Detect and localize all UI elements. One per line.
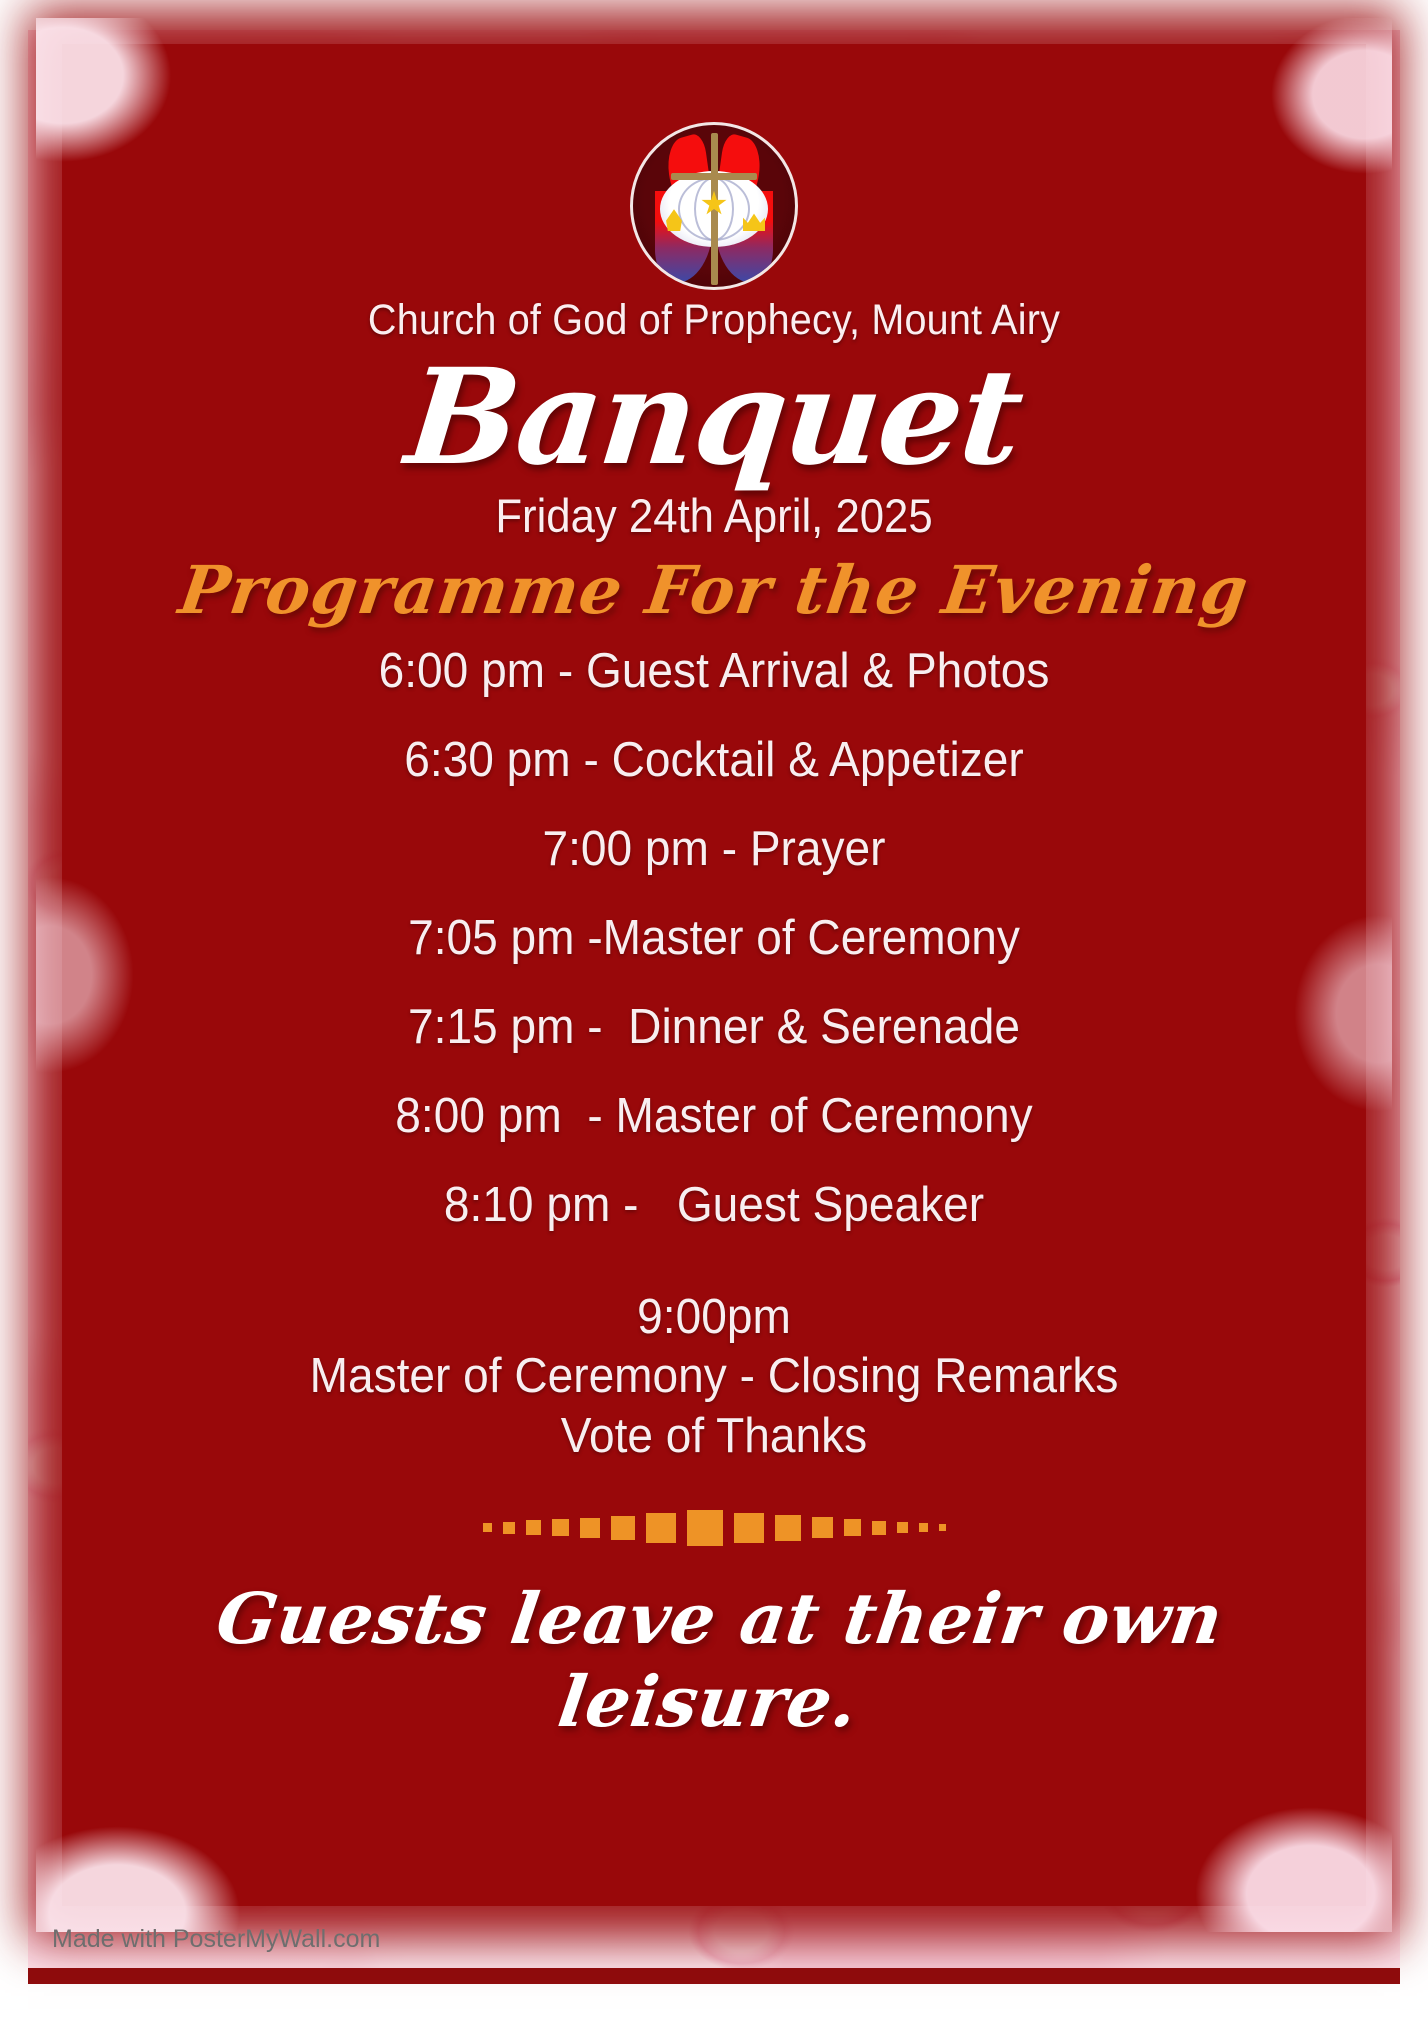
divider-square xyxy=(687,1510,723,1546)
vote-of-thanks-line: Vote of Thanks xyxy=(101,1407,1327,1467)
programme-heading: Programme For the Evening xyxy=(57,551,1372,629)
divider-square xyxy=(939,1524,946,1531)
schedule-item: 7:05 pm -Master of Ceremony xyxy=(159,914,1268,963)
divider-square xyxy=(552,1519,569,1536)
divider-square xyxy=(872,1521,886,1535)
church-emblem-logo xyxy=(630,122,798,290)
divider-square xyxy=(844,1519,861,1536)
banquet-poster: Church of God of Prophecy, Mount Airy Ba… xyxy=(0,0,1428,2028)
divider-square xyxy=(526,1520,541,1535)
divider-square xyxy=(919,1523,928,1532)
postermywall-watermark: Made with PosterMyWall.com xyxy=(52,1925,380,1954)
divider-square xyxy=(483,1523,492,1532)
closing-remarks-line: Master of Ceremony - Closing Remarks xyxy=(101,1347,1327,1407)
divider-square xyxy=(646,1513,676,1543)
page-title: Banquet xyxy=(55,351,1373,486)
schedule-item: 7:15 pm - Dinner & Serenade xyxy=(159,1003,1268,1052)
closing-time: 9:00pm xyxy=(101,1288,1327,1348)
schedule-item: 6:00 pm - Guest Arrival & Photos xyxy=(159,647,1268,696)
schedule-item: 7:00 pm - Prayer xyxy=(159,825,1268,874)
cross-horizontal-icon xyxy=(671,173,757,180)
poster-content-panel: Church of God of Prophecy, Mount Airy Ba… xyxy=(62,44,1366,1906)
divider-square xyxy=(775,1515,801,1541)
schedule-item: 6:30 pm - Cocktail & Appetizer xyxy=(159,736,1268,785)
divider-square xyxy=(611,1516,635,1540)
divider-square xyxy=(897,1522,908,1533)
event-date: Friday 24th April, 2025 xyxy=(108,488,1321,543)
programme-schedule-list: 6:00 pm - Guest Arrival & Photos6:30 pm … xyxy=(124,647,1304,1230)
schedule-item: 8:00 pm - Master of Ceremony xyxy=(159,1092,1268,1141)
closing-block: 9:00pm Master of Ceremony - Closing Rema… xyxy=(62,1288,1366,1467)
schedule-item: 8:10 pm - Guest Speaker xyxy=(159,1181,1268,1230)
divider-square xyxy=(812,1517,833,1538)
divider-square xyxy=(503,1522,515,1534)
divider-square xyxy=(734,1513,764,1543)
closing-script-text: Guests leave at their own leisure. xyxy=(50,1577,1377,1743)
divider-square xyxy=(580,1518,600,1538)
decorative-divider xyxy=(62,1501,1366,1555)
bottom-accent-bar xyxy=(28,1968,1400,1984)
church-name: Church of God of Prophecy, Mount Airy xyxy=(114,296,1314,345)
